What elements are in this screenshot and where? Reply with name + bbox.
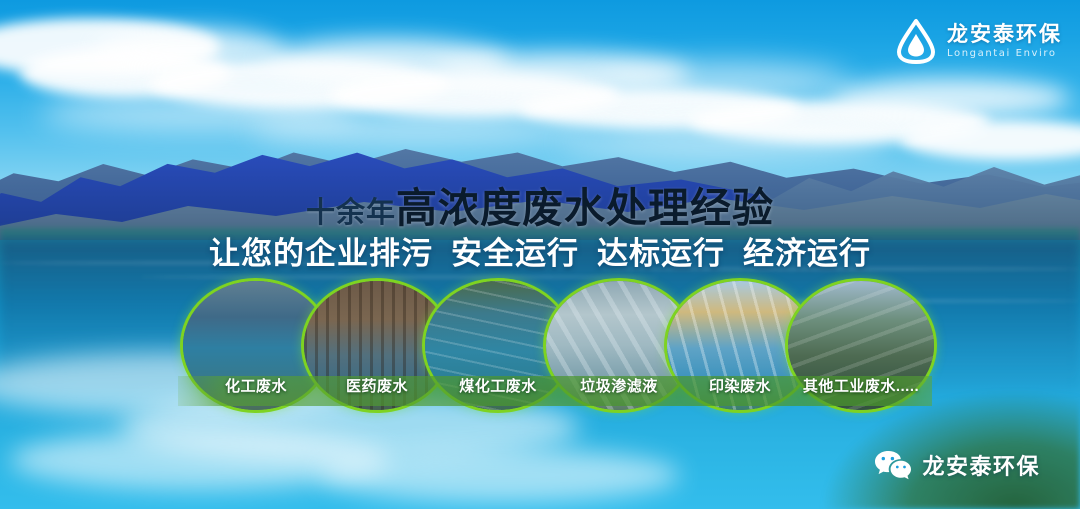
brand-logo[interactable]: 龙安泰环保 Longantai Enviro (894, 18, 1062, 64)
headline-prefix: 十余年 (306, 197, 396, 229)
category-label-row: 化工废水 医药废水 煤化工废水 垃圾渗滤液 印染废水 其他工业废水..... (180, 278, 940, 413)
subheadline-segment: 达标运行 (597, 228, 725, 273)
cloud-shape (600, 62, 850, 102)
cloud-shape (830, 78, 1070, 118)
water-reflection-cloud (320, 448, 680, 502)
water-drop-logo-icon (894, 18, 938, 64)
wechat-icon (874, 449, 912, 481)
wechat-account-badge[interactable]: 龙安泰环保 (874, 449, 1040, 481)
wechat-account-name: 龙安泰环保 (922, 449, 1040, 481)
headline-main: 高浓度废水处理经验 (396, 185, 774, 231)
category-label: 其他工业废水..... (778, 375, 944, 396)
promotional-banner: 龙安泰环保 Longantai Enviro 十余年高浓度废水处理经验 让您的企… (0, 0, 1080, 509)
subheadline: 让您的企业排污安全运行达标运行经济运行 (0, 228, 1080, 273)
cloud-shape (250, 112, 590, 146)
headline: 十余年高浓度废水处理经验 (0, 174, 1080, 234)
subheadline-segment: 安全运行 (451, 228, 579, 273)
brand-name-en: Longantai Enviro (947, 49, 1062, 59)
brand-name-cn: 龙安泰环保 (947, 24, 1062, 45)
subheadline-segment: 经济运行 (743, 228, 871, 273)
cloud-shape (560, 126, 890, 158)
subheadline-segment: 让您的企业排污 (209, 228, 433, 273)
